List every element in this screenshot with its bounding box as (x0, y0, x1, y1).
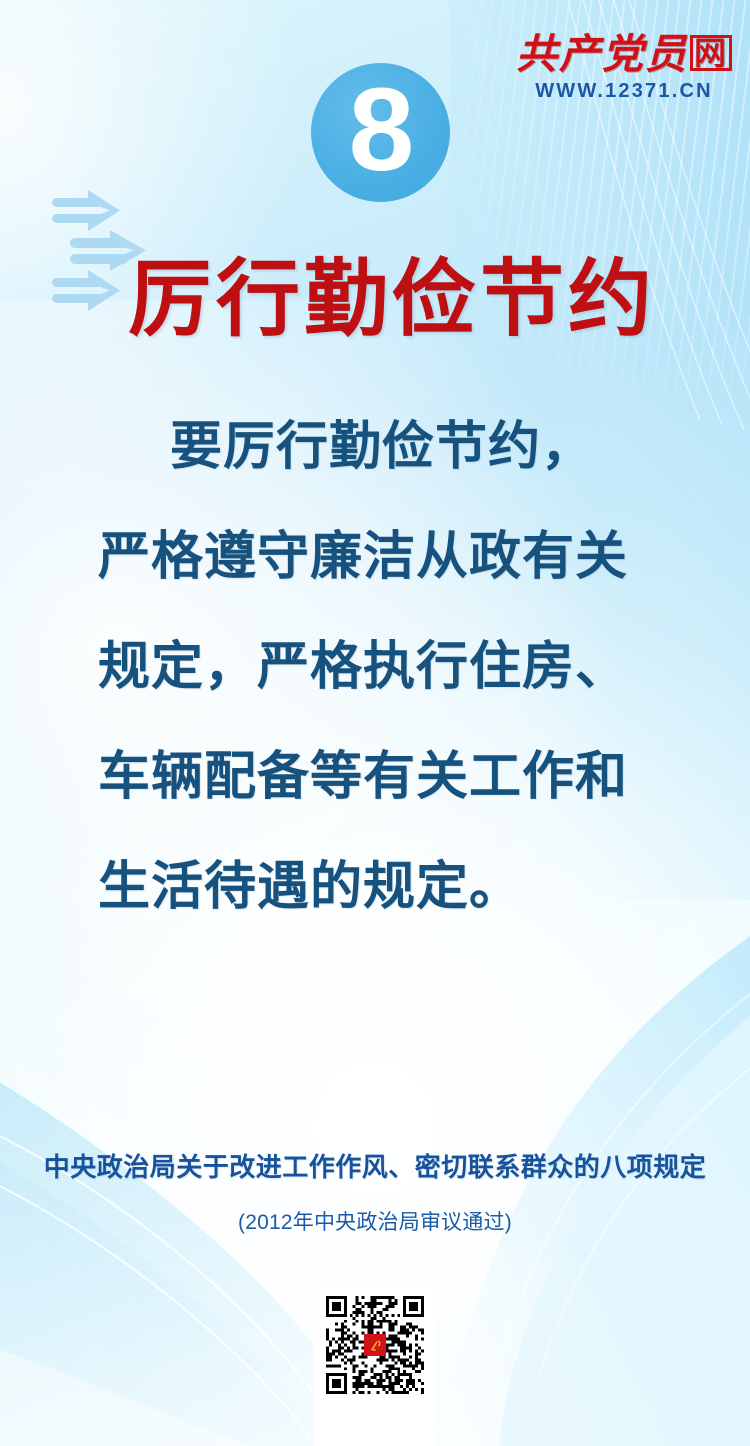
body-line: 规定，严格执行住房、 (62, 612, 688, 722)
logo-wordmark: 共产党员网 (516, 34, 732, 75)
body-line: 严格遵守廉洁从政有关 (62, 502, 688, 612)
site-logo[interactable]: 共产党员网 WWW.12371.CN (516, 34, 732, 101)
party-emblem-icon (364, 1334, 386, 1356)
logo-url: WWW.12371.CN (516, 81, 732, 101)
number-badge-value: 8 (349, 71, 413, 189)
body-line: 要厉行勤俭节约， (62, 392, 688, 502)
logo-wordmark-boxed: 网 (690, 35, 732, 71)
logo-wordmark-text: 共产党员 (516, 31, 688, 77)
body-text-block: 要厉行勤俭节约， 严格遵守廉洁从政有关 规定，严格执行住房、 车辆配备等有关工作… (62, 392, 688, 942)
body-line: 生活待遇的规定。 (62, 832, 688, 942)
poster-root: 共产党员网 WWW.12371.CN 8 厉行勤俭节约 要厉行勤俭节约， 严格遵… (0, 0, 750, 1446)
footer-block: 中央政治局关于改进工作作风、密切联系群众的八项规定 (2012年中央政治局审议通… (0, 1152, 750, 1236)
page-title: 厉行勤俭节约 (0, 254, 750, 345)
footer-title: 中央政治局关于改进工作作风、密切联系群众的八项规定 (0, 1152, 750, 1183)
number-badge: 8 (311, 63, 450, 202)
qr-code[interactable] (314, 1284, 436, 1446)
footer-subtitle: (2012年中央政治局审议通过) (0, 1206, 750, 1236)
qr-code-canvas (326, 1296, 424, 1394)
body-line: 车辆配备等有关工作和 (62, 722, 688, 832)
